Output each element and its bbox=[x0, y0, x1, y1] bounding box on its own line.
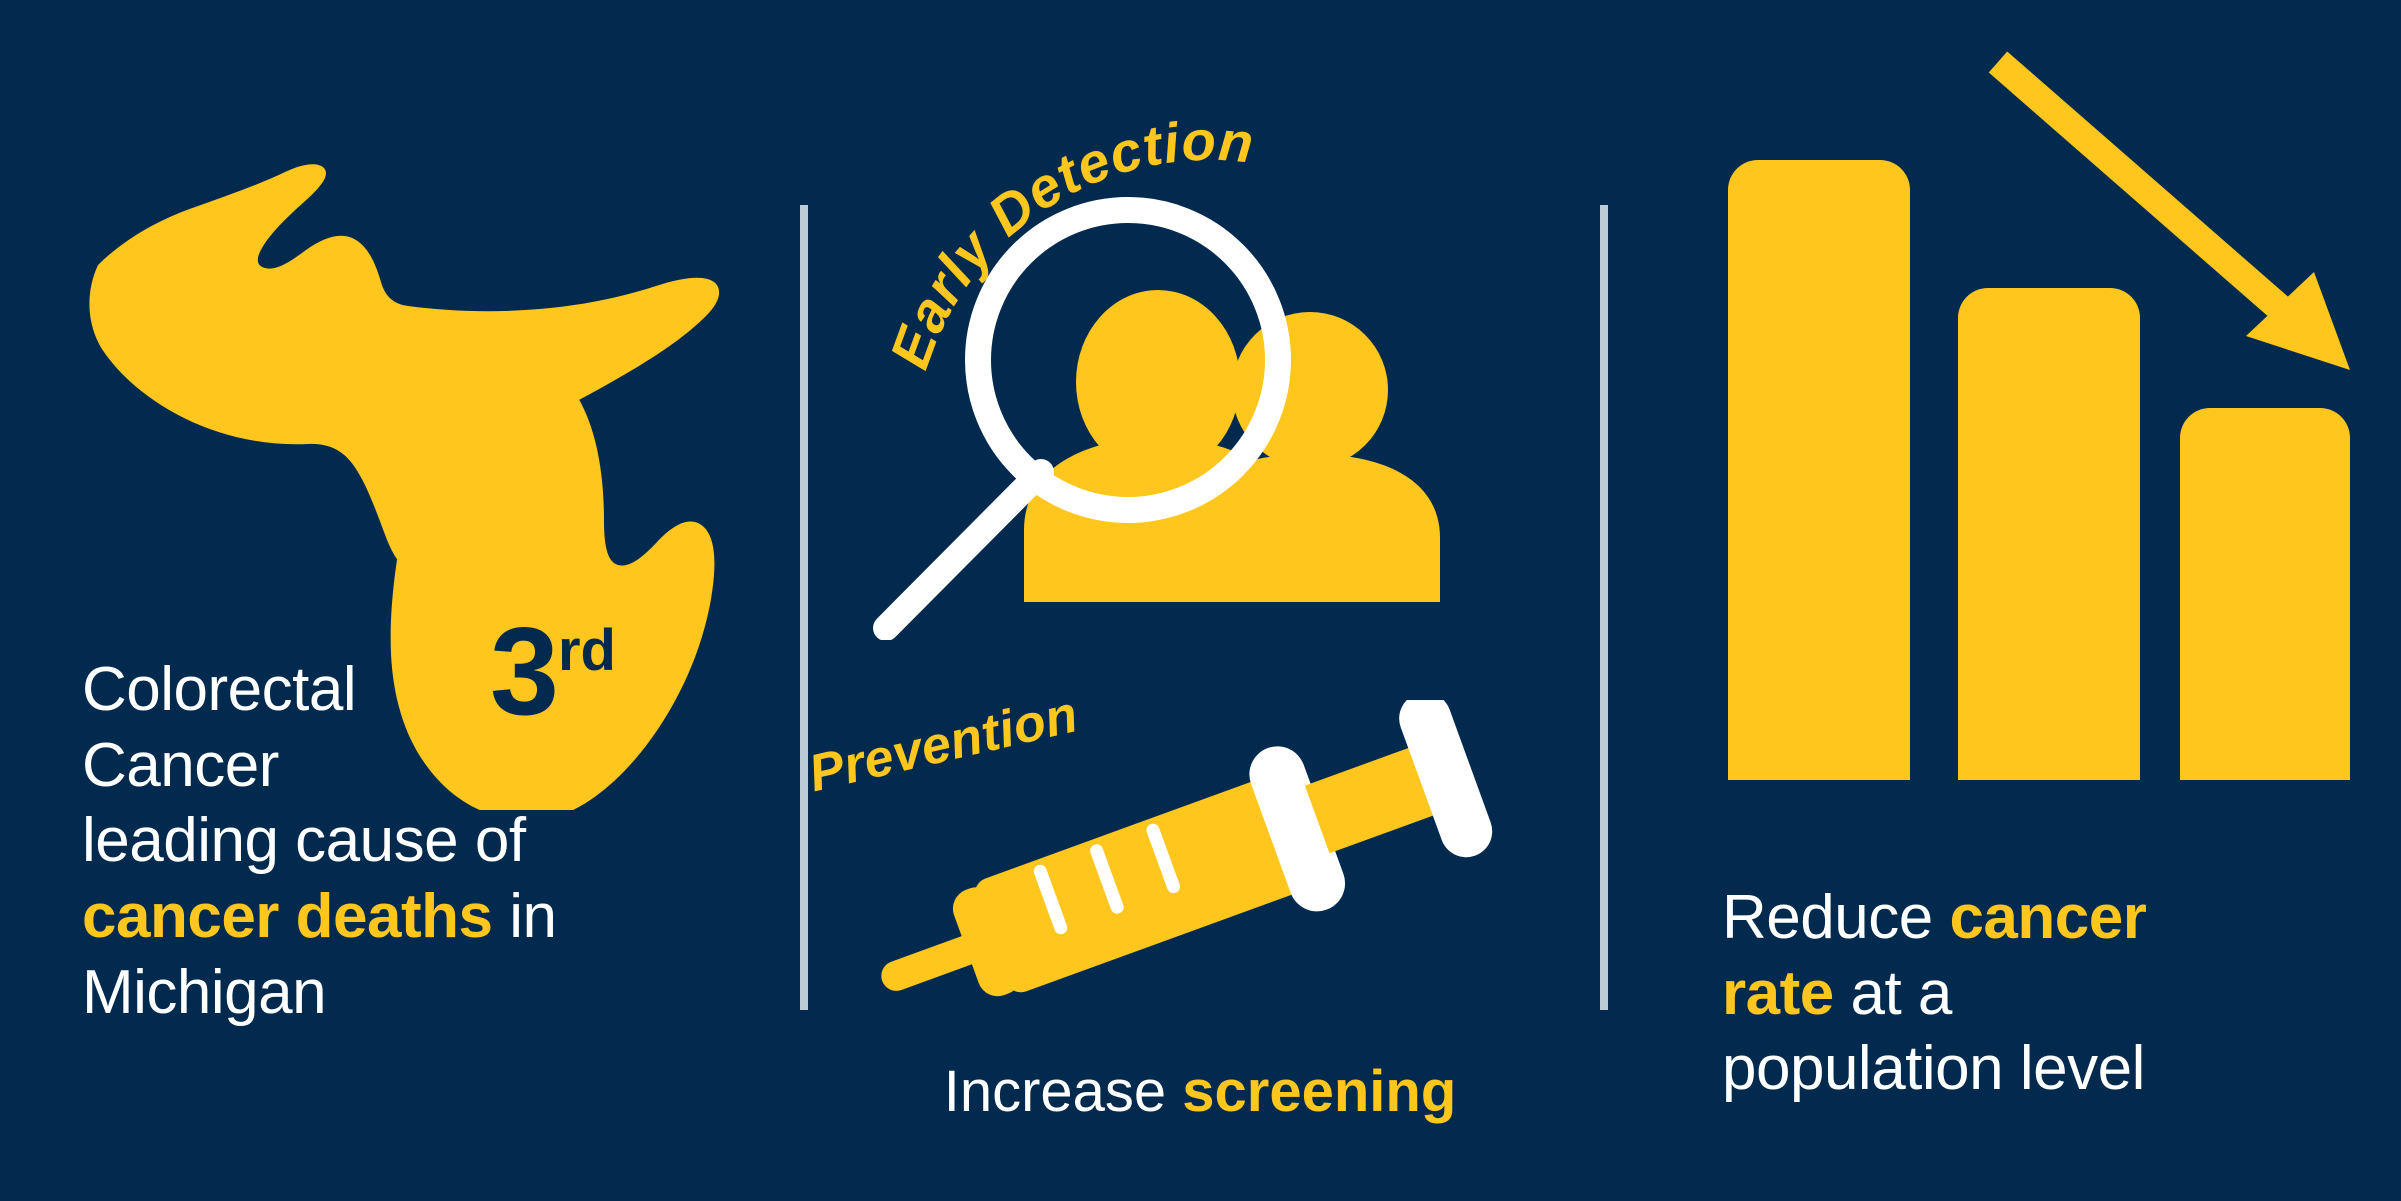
bar-1 bbox=[1728, 160, 1910, 780]
magnifying-glass-people-icon bbox=[828, 120, 1508, 640]
bar-3 bbox=[2180, 408, 2350, 780]
highlight-cancer: cancer bbox=[1949, 883, 2146, 952]
right-line-3: population level bbox=[1722, 1031, 2401, 1107]
bar-2 bbox=[1958, 288, 2140, 780]
panel-reduce-rate: Reduce cancer rate at a population level bbox=[1600, 0, 2401, 1201]
left-line-3: leading cause of bbox=[82, 803, 782, 879]
declining-bar-chart-icon bbox=[1710, 40, 2400, 780]
infographic-canvas: 3rd Colorectal Cancer leading cause of c… bbox=[0, 0, 2401, 1201]
highlight-screening: screening bbox=[1182, 1059, 1456, 1124]
left-statement-text: Colorectal Cancer leading cause of cance… bbox=[82, 652, 782, 1030]
panel-early-detection-prevention: Early Detection bbox=[800, 0, 1600, 1201]
highlight-rate: rate bbox=[1722, 959, 1834, 1028]
right-statement-text: Reduce cancer rate at a population level bbox=[1722, 880, 2401, 1107]
left-line-4: cancer deaths in bbox=[82, 879, 782, 955]
left-line-1: Colorectal bbox=[82, 652, 782, 728]
right-line-1: Reduce cancer bbox=[1722, 880, 2401, 956]
panel-early-stat: 3rd Colorectal Cancer leading cause of c… bbox=[0, 0, 800, 1201]
highlight-cancer-deaths: cancer deaths bbox=[82, 882, 493, 951]
magnifier-handle bbox=[886, 472, 1041, 628]
left-line-2: Cancer bbox=[82, 728, 782, 804]
right-line-2: rate at a bbox=[1722, 956, 2401, 1032]
left-line-5: Michigan bbox=[82, 955, 782, 1031]
